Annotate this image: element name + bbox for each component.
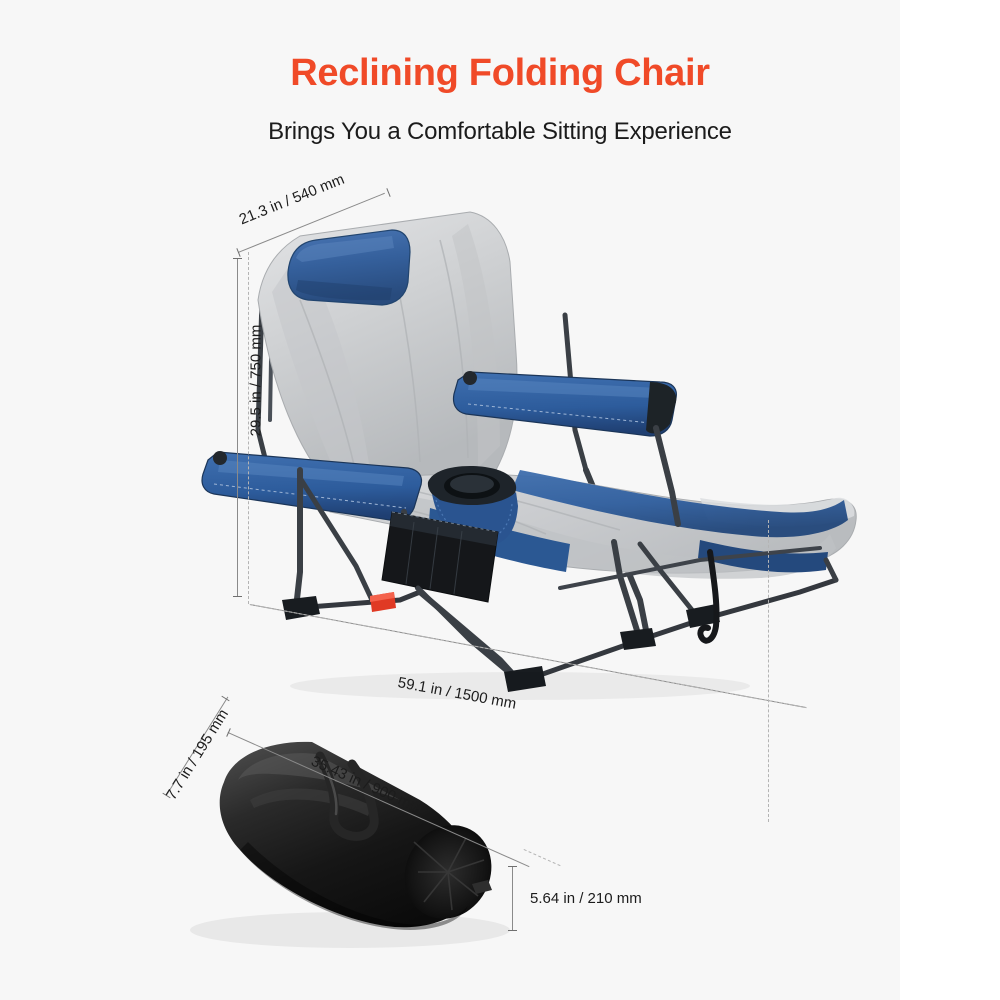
dim-cap-bag-height-top (508, 866, 517, 867)
carry-bag-illustration (0, 0, 1000, 1000)
infographic-canvas: Reclining Folding Chair Brings You a Com… (0, 0, 1000, 1000)
dim-cap-chair-height-bottom (233, 596, 242, 597)
dim-line-bag-height (512, 866, 513, 930)
dim-cap-bag-height-bottom (508, 930, 517, 931)
dim-leader-chair-left (248, 252, 249, 604)
dim-line-chair-height (237, 258, 238, 596)
dim-label-bag-height: 5.64 in / 210 mm (530, 890, 642, 907)
dim-label-chair-height: 29.5 in / 750 mm (248, 321, 265, 441)
dim-leader-footrest-tip (768, 520, 769, 822)
dim-cap-chair-height-top (233, 258, 242, 259)
